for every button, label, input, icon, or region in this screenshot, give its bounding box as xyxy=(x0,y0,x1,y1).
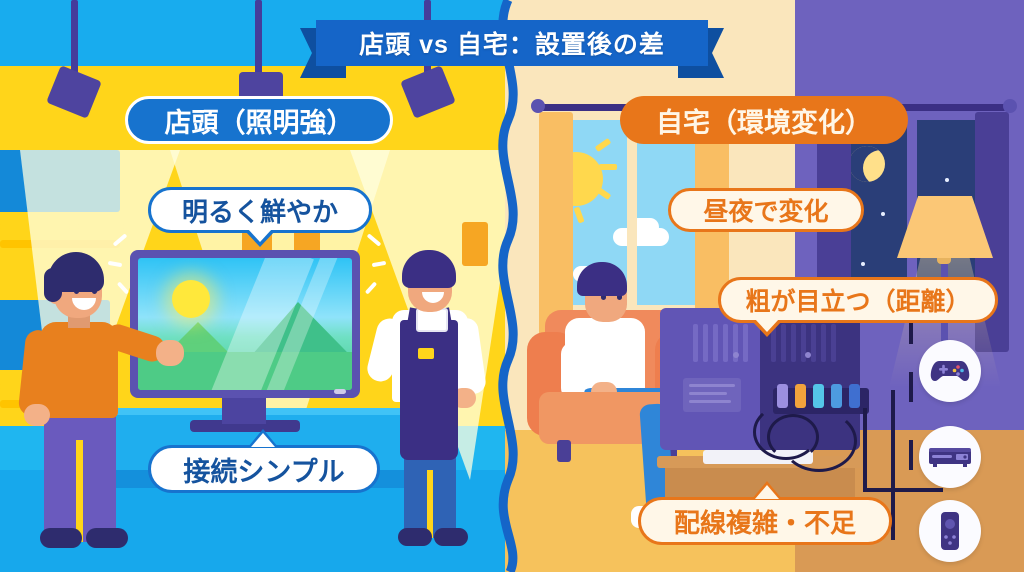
customer-shoe xyxy=(40,528,82,548)
title-ribbon: 店頭 vs 自宅：設置後の差 xyxy=(300,20,724,66)
customer-hand-right xyxy=(156,340,184,366)
sofa-leg xyxy=(557,440,571,462)
cable-run xyxy=(909,372,913,402)
cable-run xyxy=(863,408,867,492)
clerk-apron xyxy=(400,320,458,460)
bubble-wiring-complex: 配線複雑・不足 xyxy=(638,497,892,545)
clerk-name-badge xyxy=(418,348,434,359)
scene-divider xyxy=(478,0,538,572)
customer-leg-gap xyxy=(76,440,83,542)
cable-run xyxy=(909,440,913,470)
bubble-day-night-change: 昼夜で変化 xyxy=(668,188,864,232)
tangled-cable xyxy=(767,414,819,460)
showroom-tv-screen xyxy=(138,258,352,390)
remote-control-icon xyxy=(940,511,960,551)
spotlight-rod xyxy=(255,0,262,76)
page-title: 店頭 vs 自宅：設置後の差 xyxy=(359,25,665,61)
cable-plug xyxy=(813,384,824,408)
infographic-canvas: 店頭 vs 自宅：設置後の差 店頭（照明強） 自宅（環境変化） 明るく鮮やか 接… xyxy=(0,0,1024,572)
clerk-leg-gap xyxy=(427,470,433,538)
set-top-box-icon xyxy=(928,445,972,469)
bubble-simple-connection: 接続シンプル xyxy=(148,445,380,493)
bubble-flaws-visible: 粗が目立つ（距離） xyxy=(718,277,998,323)
showroom-tv-neck xyxy=(222,398,266,424)
cable-plug xyxy=(849,384,860,408)
cable-run xyxy=(863,488,943,492)
gamepad-icon xyxy=(930,358,970,384)
device-icon-media-player[interactable] xyxy=(919,426,981,488)
showroom-tv xyxy=(130,250,360,398)
bubble-tail-inner xyxy=(248,229,272,242)
tv-power-led xyxy=(334,389,346,394)
curtain-rod-knob xyxy=(1003,99,1017,113)
cable-plug xyxy=(795,384,806,408)
window-mullion xyxy=(627,120,637,305)
bubble-tail-inner xyxy=(251,433,275,447)
moon-icon xyxy=(849,146,885,182)
left-panel-header: 店頭（照明強） xyxy=(125,96,393,144)
customer-sideburn xyxy=(44,268,62,302)
customer-shoe xyxy=(86,528,128,548)
right-panel-header: 自宅（環境変化） xyxy=(620,96,908,144)
device-icon-gamepad[interactable] xyxy=(919,340,981,402)
bubble-tail-inner xyxy=(755,485,779,499)
clerk-shoe xyxy=(434,528,468,546)
clerk-shoe xyxy=(398,528,432,546)
bubble-bright-vivid: 明るく鮮やか xyxy=(148,187,372,233)
screen-sun-icon xyxy=(172,280,210,318)
spotlight-rod xyxy=(71,0,78,76)
cable-plug xyxy=(831,384,842,408)
bubble-tail-inner xyxy=(755,319,779,332)
customer-hand-left xyxy=(24,404,50,426)
device-icon-remote[interactable] xyxy=(919,500,981,562)
ribbon-body: 店頭 vs 自宅：設置後の差 xyxy=(316,20,708,66)
